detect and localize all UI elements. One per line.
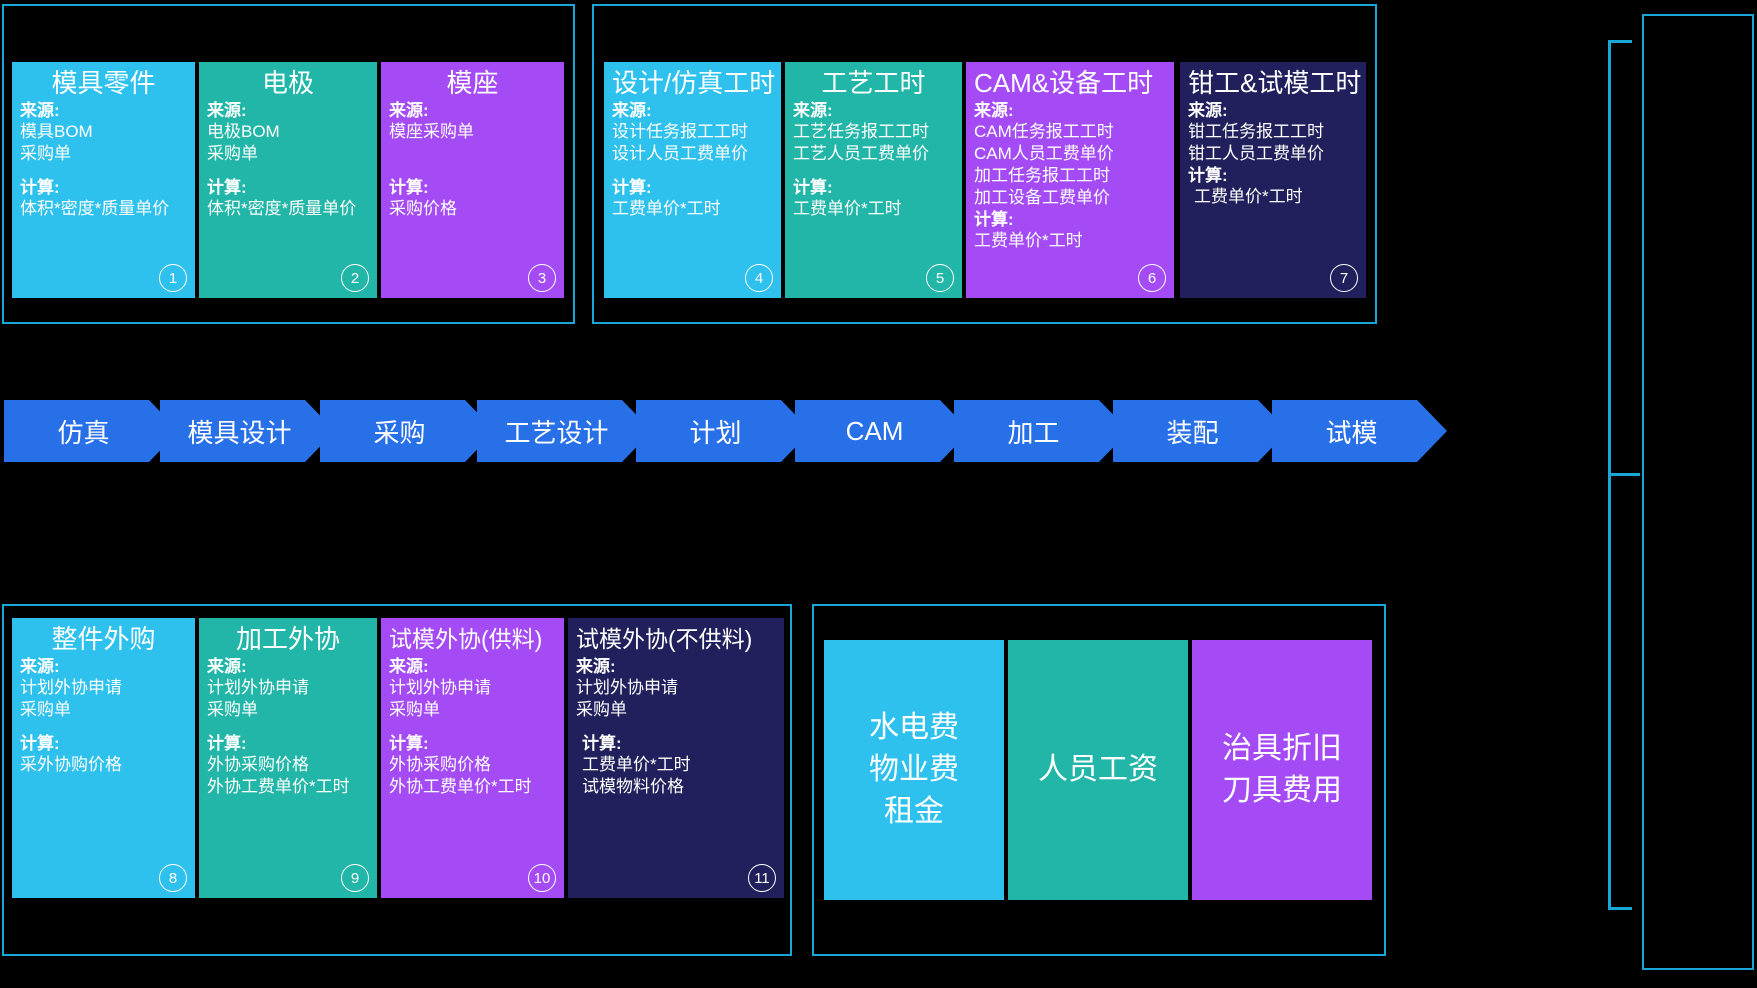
source-line: 采购单 (576, 699, 776, 721)
source-label: 来源: (974, 100, 1166, 121)
source-line: 计划外协申请 (576, 677, 776, 699)
calc-label: 计算: (1188, 165, 1358, 186)
bracket-bottom-arm (1608, 907, 1632, 910)
card-number-badge: 11 (748, 864, 776, 892)
source-line: CAM任务报工工时 (974, 121, 1166, 143)
calc-line: 外协工费单价*工时 (207, 776, 369, 798)
process-step-trial-mold[interactable]: 试模 (1272, 400, 1447, 462)
spacer (20, 721, 187, 733)
cost-card-3[interactable]: 模座 来源: 模座采购单 计算: 采购价格 3 (381, 62, 564, 298)
overhead-line: 物业费 (869, 749, 959, 791)
calc-label: 计算: (576, 733, 776, 754)
overhead-block-lines: 人员工资 (1038, 749, 1158, 791)
calc-line: 外协采购价格 (389, 754, 556, 776)
source-line: 加工任务报工工时 (974, 165, 1166, 187)
cost-card-10[interactable]: 试模外协(供料) 来源: 计划外协申请 采购单 计算: 外协采购价格 外协工费单… (381, 618, 564, 898)
source-line: 钳工任务报工工时 (1188, 121, 1358, 143)
overhead-block-salary[interactable]: 人员工资 (1008, 640, 1188, 900)
card-number-badge: 5 (926, 264, 954, 292)
overhead-block-tooling[interactable]: 治具折旧 刀具费用 (1192, 640, 1372, 900)
cost-card-6[interactable]: CAM&设备工时 来源: CAM任务报工工时 CAM人员工费单价 加工任务报工工… (966, 62, 1174, 298)
spacer (389, 165, 556, 177)
source-line: 模座采购单 (389, 121, 556, 143)
card-number-badge: 7 (1330, 264, 1358, 292)
cost-card-7[interactable]: 钳工&试模工时 来源: 钳工任务报工工时 钳工人员工费单价 计算: 工费单价*工… (1180, 62, 1366, 298)
calc-label: 计算: (389, 733, 556, 754)
overhead-block-utilities[interactable]: 水电费 物业费 租金 (824, 640, 1004, 900)
overhead-block-lines: 治具折旧 刀具费用 (1222, 728, 1342, 812)
source-line: 电极BOM (207, 121, 369, 143)
process-step-label: 试模 (1325, 413, 1377, 450)
source-line: 工艺人员工费单价 (793, 143, 954, 165)
cost-card-2[interactable]: 电极 来源: 电极BOM 采购单 计算: 体积*密度*质量单价 2 (199, 62, 377, 298)
process-step-planning[interactable]: 计划 (636, 400, 811, 462)
overhead-line: 水电费 (869, 707, 959, 749)
overhead-line: 治具折旧 (1222, 728, 1342, 770)
calc-label: 计算: (207, 177, 369, 198)
calc-line: 体积*密度*质量单价 (20, 198, 187, 220)
source-line: 加工设备工费单价 (974, 187, 1166, 209)
calc-line: 采购价格 (389, 198, 556, 220)
cost-card-title: 设计/仿真工时 (612, 68, 773, 98)
source-line: 计划外协申请 (207, 677, 369, 699)
cost-card-title: 整件外购 (20, 624, 187, 654)
card-number-badge: 8 (159, 864, 187, 892)
source-label: 来源: (793, 100, 954, 121)
cost-card-5[interactable]: 工艺工时 来源: 工艺任务报工工时 工艺人员工费单价 计算: 工费单价*工时 5 (785, 62, 962, 298)
process-step-label: 装配 (1166, 413, 1218, 450)
spacer (612, 165, 773, 177)
process-step-assembly[interactable]: 装配 (1113, 400, 1288, 462)
calc-line: 工费单价*工时 (576, 754, 776, 776)
overhead-block-lines: 水电费 物业费 租金 (869, 707, 959, 833)
source-line: CAM人员工费单价 (974, 143, 1166, 165)
spacer (793, 165, 954, 177)
process-step-simulation[interactable]: 仿真 (4, 400, 179, 462)
overhead-line: 刀具费用 (1222, 770, 1342, 812)
source-label: 来源: (207, 656, 369, 677)
calc-label: 计算: (20, 177, 187, 198)
source-line: 采购单 (389, 699, 556, 721)
source-label: 来源: (612, 100, 773, 121)
card-number-badge: 2 (341, 264, 369, 292)
calc-label: 计算: (793, 177, 954, 198)
source-label: 来源: (389, 656, 556, 677)
cost-card-title: 钳工&试模工时 (1188, 68, 1358, 98)
bracket-top-arm (1608, 40, 1632, 43)
calc-line: 工费单价*工时 (974, 230, 1166, 252)
spacer (576, 721, 776, 733)
process-step-process-design[interactable]: 工艺设计 (477, 400, 652, 462)
source-line: 采购单 (20, 699, 187, 721)
spacer (20, 165, 187, 177)
source-line: 采购单 (20, 143, 187, 165)
cost-card-title: 加工外协 (207, 624, 369, 654)
cost-card-title: 试模外协(不供料) (576, 624, 776, 654)
cost-card-title: 试模外协(供料) (389, 624, 556, 654)
calc-line: 外协采购价格 (207, 754, 369, 776)
cost-card-title: 模座 (389, 68, 556, 98)
bracket-pointer (1608, 473, 1640, 476)
card-number-badge: 3 (528, 264, 556, 292)
source-label: 来源: (389, 100, 556, 121)
right-summary-bracket (1600, 40, 1640, 910)
process-step-machining[interactable]: 加工 (954, 400, 1129, 462)
process-step-label: 模具设计 (187, 413, 291, 450)
source-label: 来源: (1188, 100, 1358, 121)
source-label: 来源: (20, 100, 187, 121)
cost-card-8[interactable]: 整件外购 来源: 计划外协申请 采购单 计算: 采外协购价格 8 (12, 618, 195, 898)
cost-card-4[interactable]: 设计/仿真工时 来源: 设计任务报工工时 设计人员工费单价 计算: 工费单价*工… (604, 62, 781, 298)
cost-card-11[interactable]: 试模外协(不供料) 来源: 计划外协申请 采购单 计算: 工费单价*工时 试模物… (568, 618, 784, 898)
overhead-line: 人员工资 (1038, 749, 1158, 791)
spacer (207, 165, 369, 177)
cost-card-title: 模具零件 (20, 68, 187, 98)
card-number-badge: 4 (745, 264, 773, 292)
process-step-label: 仿真 (57, 413, 109, 450)
card-number-badge: 6 (1138, 264, 1166, 292)
cost-card-9[interactable]: 加工外协 来源: 计划外协申请 采购单 计算: 外协采购价格 外协工费单价*工时… (199, 618, 377, 898)
source-label: 来源: (207, 100, 369, 121)
total-cost-frame (1642, 14, 1754, 970)
calc-label: 计算: (389, 177, 556, 198)
overhead-line: 租金 (869, 791, 959, 833)
calc-line: 体积*密度*质量单价 (207, 198, 369, 220)
cost-card-title: 电极 (207, 68, 369, 98)
process-step-cam[interactable]: CAM (795, 400, 970, 462)
source-line (389, 143, 556, 165)
source-line: 工艺任务报工工时 (793, 121, 954, 143)
process-step-label: 计划 (689, 413, 741, 450)
process-step-purchasing[interactable]: 采购 (320, 400, 495, 462)
spacer (389, 721, 556, 733)
source-line: 采购单 (207, 143, 369, 165)
card-number-badge: 9 (341, 864, 369, 892)
card-number-badge: 10 (528, 864, 556, 892)
cost-card-1[interactable]: 模具零件 来源: 模具BOM 采购单 计算: 体积*密度*质量单价 1 (12, 62, 195, 298)
spacer (207, 721, 369, 733)
source-line: 模具BOM (20, 121, 187, 143)
cost-card-title: 工艺工时 (793, 68, 954, 98)
calc-label: 计算: (207, 733, 369, 754)
source-label: 来源: (20, 656, 187, 677)
source-line: 设计人员工费单价 (612, 143, 773, 165)
calc-line: 工费单价*工时 (793, 198, 954, 220)
process-step-label: CAM (846, 416, 904, 447)
calc-line: 工费单价*工时 (612, 198, 773, 220)
calc-line: 外协工费单价*工时 (389, 776, 556, 798)
process-step-mold-design[interactable]: 模具设计 (160, 400, 335, 462)
source-line: 设计任务报工工时 (612, 121, 773, 143)
cost-card-title: CAM&设备工时 (974, 68, 1166, 98)
card-number-badge: 1 (159, 264, 187, 292)
calc-label: 计算: (612, 177, 773, 198)
source-label: 来源: (576, 656, 776, 677)
calc-line: 试模物料价格 (576, 776, 776, 798)
source-line: 采购单 (207, 699, 369, 721)
diagram-canvas: 模具零件 来源: 模具BOM 采购单 计算: 体积*密度*质量单价 1 电极 来… (0, 0, 1757, 988)
process-step-label: 工艺设计 (504, 413, 608, 450)
source-line: 计划外协申请 (389, 677, 556, 699)
source-line: 计划外协申请 (20, 677, 187, 699)
calc-label: 计算: (974, 209, 1166, 230)
calc-line: 工费单价*工时 (1188, 186, 1358, 208)
calc-line: 采外协购价格 (20, 754, 187, 776)
process-step-label: 加工 (1007, 413, 1059, 450)
process-step-label: 采购 (373, 413, 425, 450)
source-line: 钳工人员工费单价 (1188, 143, 1358, 165)
calc-label: 计算: (20, 733, 187, 754)
